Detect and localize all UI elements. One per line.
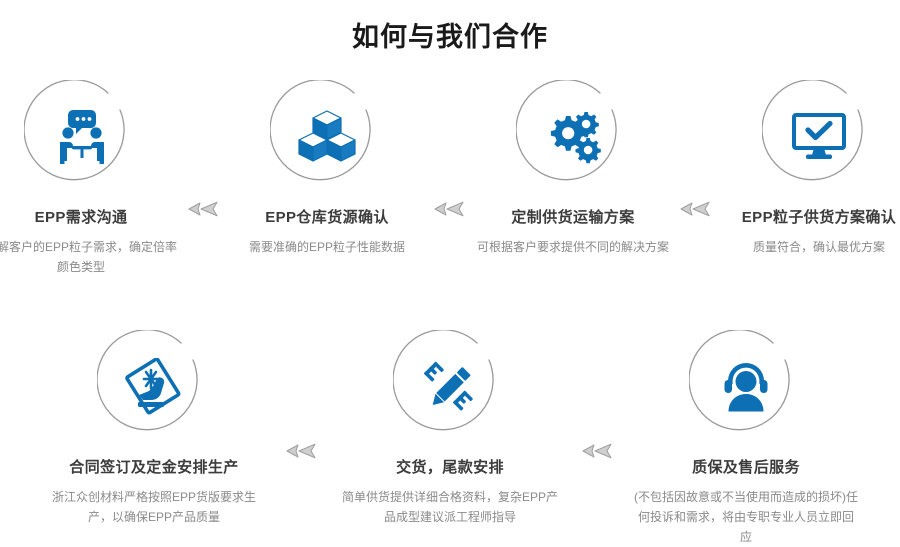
icon-ring-5 [97,330,211,444]
process-row-first: EPP需求沟通 了解客户的EPP粒子需求，确定倍率颜色类型 [0,80,900,277]
step-title: 定制供货运输方案 [511,208,634,228]
step-description: 了解客户的EPP粒子需求，确定倍率颜色类型 [0,237,179,277]
monitor-check-icon [788,106,850,168]
icon-ring-1 [24,80,138,194]
process-step-delivery-payment[interactable]: 交货，尾款安排 简单供货提供详细合格资料，复杂EPP产品成型建议派工程师指导 [325,330,575,527]
step-title: EPP粒子供货方案确认 [742,208,896,228]
process-step-contract-signing[interactable]: 合同签订及定金安排生产 浙江众创材料严格按照EPP货版要求生产，以确保EPP产品… [29,330,279,527]
next-step-arrow-icon [181,80,227,218]
page-title: 如何与我们合作 [0,0,900,57]
process-row-second: 合同签订及定金安排生产 浙江众创材料严格按照EPP货版要求生产，以确保EPP产品… [0,330,900,547]
headset-support-icon [715,356,777,418]
process-step-custom-logistics[interactable]: 定制供货运输方案 可根据客户要求提供不同的解决方案 [473,80,673,257]
icon-ring-2 [270,80,384,194]
step-title: 合同签订及定金安排生产 [69,458,238,478]
icon-ring-6 [393,330,507,444]
stacked-boxes-icon [296,106,358,168]
step-title: EPP需求沟通 [35,208,128,228]
icon-ring-4 [762,80,876,194]
next-step-arrow-icon [673,80,719,218]
step-title: 质保及售后服务 [692,458,800,478]
gears-icon [542,106,604,168]
meeting-discussion-icon [50,106,112,168]
contract-signing-icon [123,356,185,418]
step-description: 可根据客户要求提供不同的解决方案 [475,237,671,257]
step-description: 浙江众创材料严格按照EPP货版要求生产，以确保EPP产品质量 [41,487,267,527]
icon-ring-3 [516,80,630,194]
step-description: (不包括因故意或不当使用而造成的损坏)任何投诉和需求，将由专职专业人员立即回应 [633,487,859,547]
process-step-epp-requirement[interactable]: EPP需求沟通 了解客户的EPP粒子需求，确定倍率颜色类型 [0,80,181,277]
step-title: 交货，尾款安排 [396,458,504,478]
icon-ring-7 [689,330,803,444]
pencil-ruler-icon [419,356,481,418]
step-description: 质量符合，确认最优方案 [721,237,900,257]
process-step-supply-plan-confirm[interactable]: EPP粒子供货方案确认 质量符合，确认最优方案 [719,80,900,257]
next-step-arrow-icon [575,330,621,460]
step-title: EPP仓库货源确认 [265,208,389,228]
process-step-warehouse-confirm[interactable]: EPP仓库货源确认 需要准确的EPP粒子性能数据 [227,80,427,257]
next-step-arrow-icon [427,80,473,218]
next-step-arrow-icon [279,330,325,460]
step-description: 需要准确的EPP粒子性能数据 [229,237,425,257]
step-description: 简单供货提供详细合格资料，复杂EPP产品成型建议派工程师指导 [337,487,563,527]
process-step-warranty-aftersales[interactable]: 质保及售后服务 (不包括因故意或不当使用而造成的损坏)任何投诉和需求，将由专职专… [621,330,871,547]
